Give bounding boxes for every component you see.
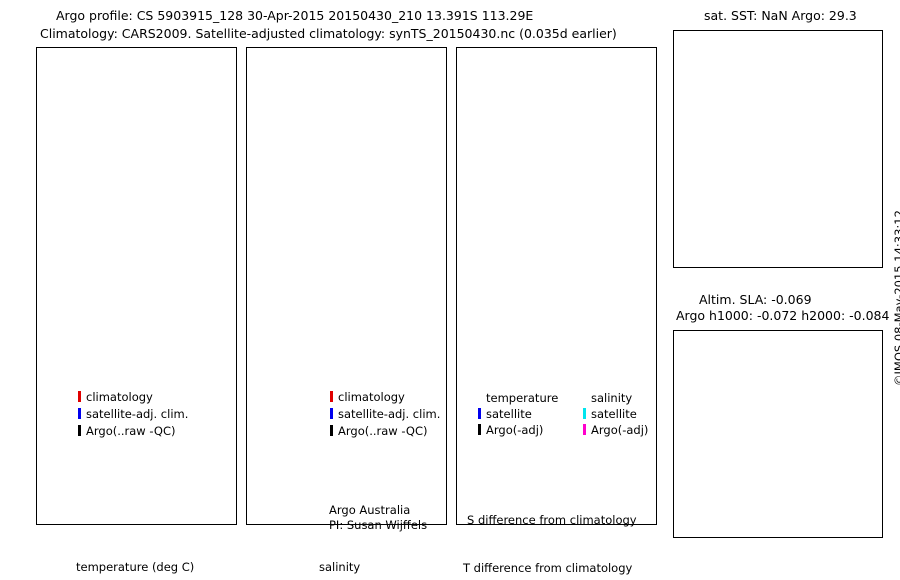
legend-item: Argo(..raw -QC) [330,424,440,438]
legend-swatch-climatology [78,391,81,402]
imos-credit-text: ©IMOS 08-May-2015 14:33:12 [892,210,900,386]
legend-item: satellite [583,407,648,421]
legend-item: satellite [478,407,558,421]
legend-item: satellite-adj. clim. [78,407,188,421]
legend-label: climatology [86,390,153,404]
figure-title-line2: Climatology: CARS2009. Satellite-adjuste… [40,26,617,41]
legend-label: Argo(..raw -QC) [86,424,176,438]
temperature-x-axis-label: temperature (deg C) [76,560,194,574]
legend-swatch-climatology [330,391,333,402]
sla-map [673,330,883,538]
argo-australia-note: Argo Australia [329,503,410,517]
legend-label: satellite-adj. clim. [338,407,440,421]
legend-swatch-t-satellite [478,408,481,419]
sst-map [673,30,883,268]
legend-label: Argo(..raw -QC) [338,424,428,438]
legend-label: climatology [338,390,405,404]
legend-label: Argo(-adj) [486,423,543,437]
legend-swatch-argo [330,425,333,436]
temperature-panel [36,47,237,525]
legend-item: Argo(-adj) [478,423,558,437]
sst-map-title: sat. SST: NaN Argo: 29.3 [704,8,857,23]
legend-label: satellite [591,407,637,421]
legend-heading: salinity [591,391,648,405]
legend-swatch-s-argo [583,424,586,435]
legend-heading: temperature [486,391,558,405]
legend-swatch-t-argo [478,424,481,435]
legend-item: Argo(..raw -QC) [78,424,188,438]
legend-swatch-satellite [78,408,81,419]
legend-item: Argo(-adj) [583,423,648,437]
difference-legend-temperature: temperature satellite Argo(-adj) [478,391,558,437]
difference-legend-salinity: salinity satellite Argo(-adj) [583,391,648,437]
temperature-legend: climatology satellite-adj. clim. Argo(..… [78,390,188,438]
legend-item: climatology [330,390,440,404]
salinity-legend: climatology satellite-adj. clim. Argo(..… [330,390,440,438]
legend-label: satellite [486,407,532,421]
legend-swatch-argo [78,425,81,436]
legend-swatch-satellite [330,408,333,419]
argo-pi-note: PI: Susan Wijffels [329,518,427,532]
imos-credit: ©IMOS 08-May-2015 14:33:12 [892,386,900,400]
difference-x-axis-label-bottom: T difference from climatology [463,561,632,575]
legend-swatch-s-satellite [583,408,586,419]
sla-map-title-line2: Argo h1000: -0.072 h2000: -0.084 [676,308,889,323]
legend-label: satellite-adj. clim. [86,407,188,421]
legend-label: Argo(-adj) [591,423,648,437]
legend-item: satellite-adj. clim. [330,407,440,421]
salinity-x-axis-label: salinity [319,560,360,574]
figure-title-line1: Argo profile: CS 5903915_128 30-Apr-2015… [56,8,533,23]
difference-panel [456,47,657,525]
legend-item: climatology [78,390,188,404]
salinity-panel [246,47,447,525]
sla-map-title-line1: Altim. SLA: -0.069 [699,292,812,307]
difference-x-axis-label-top: S difference from climatology [467,513,637,527]
